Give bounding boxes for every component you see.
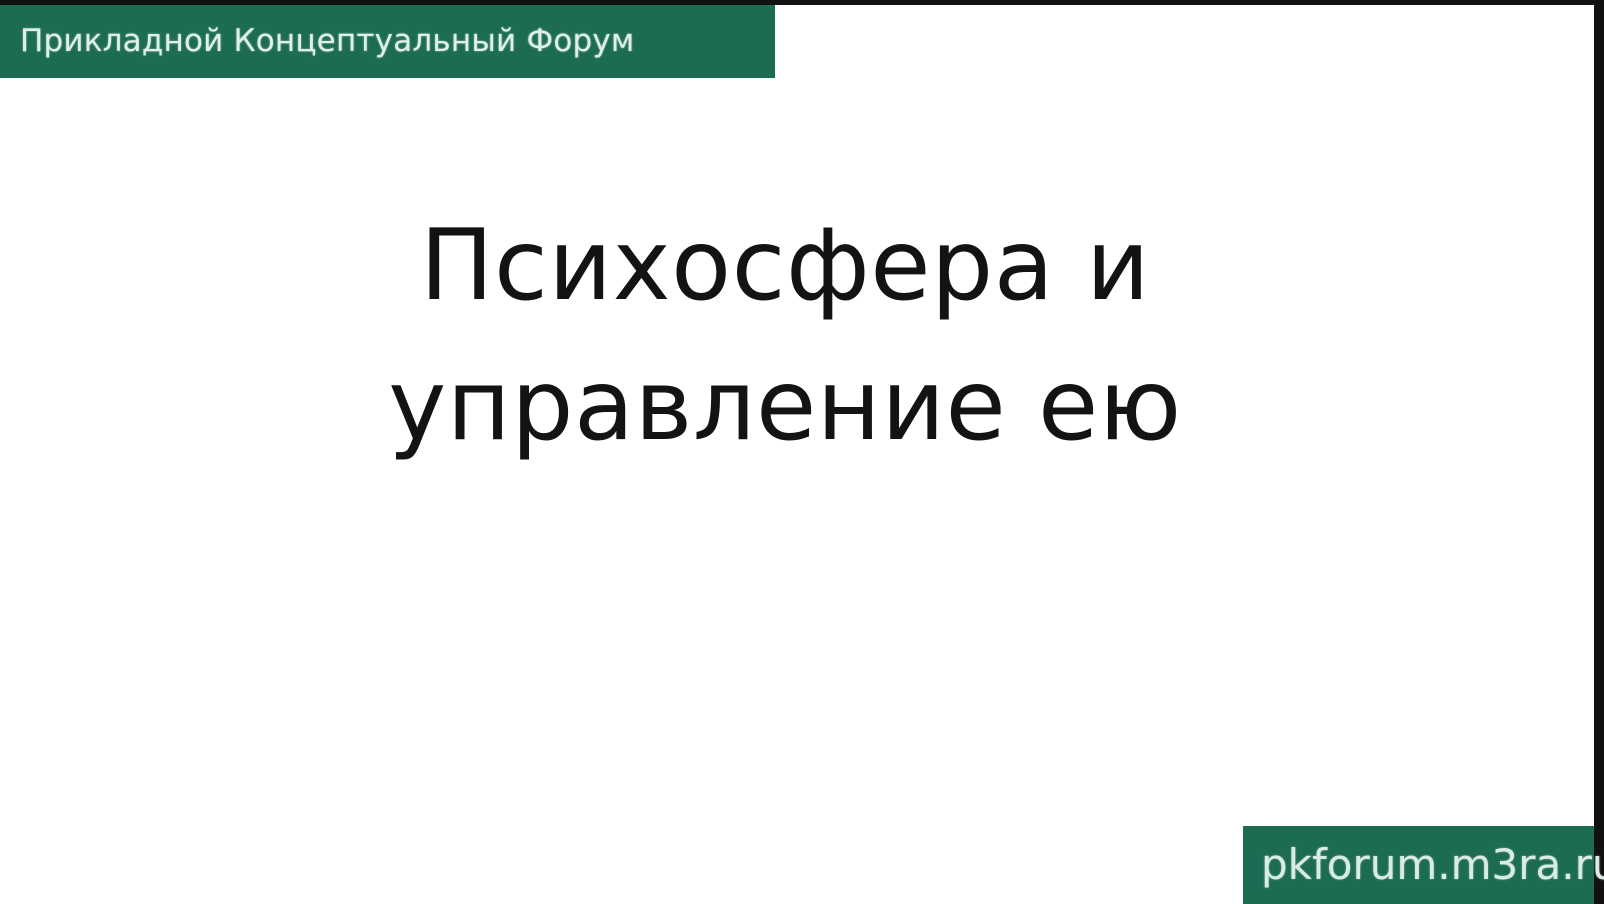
slide-title-line-1: Психосфера и — [0, 196, 1570, 336]
header-banner: Прикладной Концептуальный Форум — [0, 5, 775, 78]
slide-title-line-2: управление ею — [0, 336, 1570, 476]
presentation-slide: Прикладной Концептуальный Форум Психосфе… — [0, 0, 1604, 904]
watermark-badge: pkforum.m3ra.ru — [1243, 826, 1594, 904]
watermark-url-label: pkforum.m3ra.ru — [1243, 844, 1604, 886]
slide-title: Психосфера и управление ею — [0, 196, 1570, 476]
slide-right-edge-border — [1594, 0, 1604, 904]
forum-name-label: Прикладной Концептуальный Форум — [0, 26, 635, 57]
